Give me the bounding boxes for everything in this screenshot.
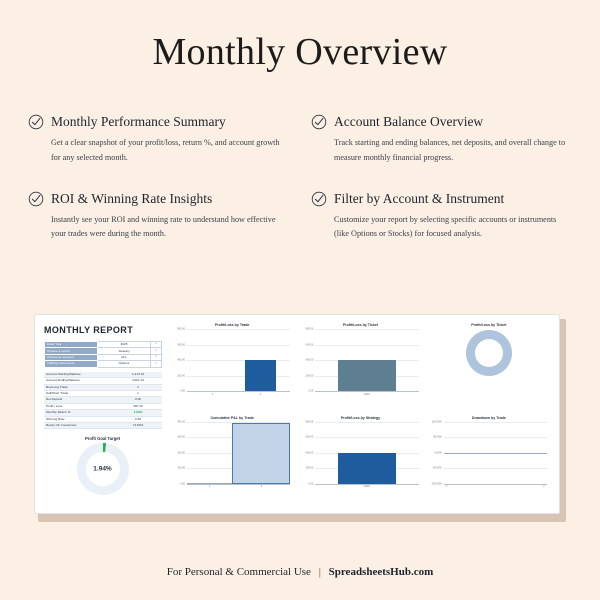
profit-goal-gauge: Profit Goal Target 1.94% [44,436,161,495]
y-tick-label: 800.00 [306,420,314,423]
y-tick-label: 50.00% [433,436,441,439]
x-tick-label: 2 [260,393,261,396]
chart-profit-loss-by-ticket-bar: Profit/Loss by Ticket 800.00 600.00 400.… [297,323,423,414]
bar-1 [338,453,396,484]
check-circle-icon [311,191,327,207]
chart-plot-area: 100.00% 50.00% 0.00% -50.00% -100.00% 1 … [444,422,547,485]
feature-item: Account Balance Overview Track starting … [311,114,572,165]
feature-item: Filter by Account & Instrument Customize… [311,191,572,242]
check-circle-icon [28,114,44,130]
check-circle-icon [311,114,327,130]
check-circle-icon [28,191,44,207]
x-tick-label: 1 [212,393,213,396]
footer-brand: SpreadsheetsHub.com [329,566,434,578]
feature-description: Get a clear snapshot of your profit/loss… [51,136,289,165]
feature-title: Monthly Performance Summary [51,114,226,130]
dashboard-sidebar: MONTHLY REPORT Enter Year 2025 ▾ Choose … [35,315,167,513]
chart-plot-area: 800.00 600.00 400.00 200.00 0.00 1 2 [187,329,290,392]
profit-goal-label: Profit Goal Target [44,436,161,441]
chevron-down-icon[interactable]: ▾ [151,361,162,367]
chart-title: Profit/Loss by Ticket [428,323,550,327]
feature-heading: Filter by Account & Instrument [311,191,572,207]
y-tick-label: 200.00 [177,374,185,377]
y-tick-label: 400.00 [306,451,314,454]
y-tick-label: 600.00 [177,343,185,346]
feature-heading: Account Balance Overview [311,114,572,130]
drawdown-line [444,453,547,454]
chart-title: Drawdown by Trade [428,416,550,420]
feature-list: Monthly Performance Summary Get a clear … [0,74,600,242]
x-tick-label: AAPL [364,393,370,396]
y-tick-label: 600.00 [306,436,314,439]
metric-value: 71.52% [114,423,162,429]
chart-profit-loss-by-strategy: Profit/Loss by Strategy 800.00 600.00 40… [297,416,423,507]
feature-description: Instantly see your ROI and winning rate … [51,213,289,242]
y-tick-label: -100.00% [431,482,442,485]
feature-heading: ROI & Winning Rate Insights [28,191,289,207]
profit-goal-value: 1.94% [77,466,129,473]
feature-description: Customize your report by selecting speci… [334,213,572,242]
bar-2 [245,360,276,391]
page-title: Monthly Overview [0,0,600,74]
y-tick-label: 600.00 [306,343,314,346]
chart-title: Cumulative P&L by Trade [171,416,293,420]
metric-label: Return On Investment [44,423,114,429]
feature-title: Account Balance Overview [334,114,483,130]
y-tick-label: 400.00 [306,359,314,362]
feature-description: Track starting and ending balances, net … [334,136,572,165]
y-tick-label: 400.00 [177,359,185,362]
y-tick-label: 0.00 [180,482,185,485]
profit-goal-donut: 1.94% [77,443,129,495]
x-tick-label: 1 [209,485,210,488]
footer-usage-text: For Personal & Commercial Use [167,566,311,578]
filter-value[interactable]: Options [98,361,151,367]
y-tick-label: 200.00 [306,467,314,470]
charts-grid: Profit/Loss by Trade 800.00 600.00 400.0… [167,315,559,513]
area-segment [232,423,290,483]
y-tick-label: 200.00 [177,451,185,454]
dashboard-window: MONTHLY REPORT Enter Year 2025 ▾ Choose … [34,314,560,514]
feature-heading: Monthly Performance Summary [28,114,289,130]
chart-title: Profit/Loss by Trade [171,323,293,327]
y-tick-label: 0.00 [308,390,313,393]
filter-table: Enter Year 2025 ▾ Choose a month January… [44,341,162,368]
bar-1 [338,360,396,391]
y-tick-label: 0.00% [435,451,442,454]
x-tick-label: 2 [543,485,544,488]
chart-title: Profit/Loss by Ticket [299,323,421,327]
chart-plot-area: 400.00 300.00 200.00 100.00 0.00 1 2 [187,422,290,485]
filter-label: Trading Instruments [45,361,98,367]
chart-profit-loss-by-trade: Profit/Loss by Trade 800.00 600.00 400.0… [169,323,295,414]
chart-profit-loss-by-ticket-donut: Profit/Loss by Ticket [426,323,552,414]
feature-title: Filter by Account & Instrument [334,191,504,207]
chart-cumulative-pl-by-trade: Cumulative P&L by Trade 400.00 300.00 20… [169,416,295,507]
y-tick-label: 800.00 [177,328,185,331]
footer: For Personal & Commercial Use | Spreadsh… [0,566,600,578]
filter-row[interactable]: Trading Instruments Options ▾ [45,361,162,367]
feature-item: Monthly Performance Summary Get a clear … [28,114,289,165]
y-tick-label: 300.00 [177,436,185,439]
feature-item: ROI & Winning Rate Insights Instantly se… [28,191,289,242]
donut-slice-aapl [466,330,512,376]
y-tick-label: 100.00% [432,420,442,423]
y-tick-label: 800.00 [306,328,314,331]
y-tick-label: 400.00 [177,420,185,423]
y-tick-label: -50.00% [432,467,441,470]
feature-title: ROI & Winning Rate Insights [51,191,212,207]
y-tick-label: 100.00 [177,467,185,470]
x-tick-label: AAPL [364,485,370,488]
chart-plot-area: 800.00 600.00 400.00 200.00 0.00 AAPL [315,422,418,485]
dashboard-preview: MONTHLY REPORT Enter Year 2025 ▾ Choose … [34,314,566,522]
y-tick-label: 0.00 [308,482,313,485]
x-tick-label: 2 [261,485,262,488]
y-tick-label: 200.00 [306,374,314,377]
chart-drawdown-by-trade: Drawdown by Trade 100.00% 50.00% 0.00% -… [426,416,552,507]
metrics-table: Account Starting Balance 1,213.14 Accoun… [44,372,162,430]
y-tick-label: 0.00 [180,390,185,393]
table-row: Return On Investment 71.52% [44,423,162,429]
chart-title: Profit/Loss by Strategy [299,416,421,420]
x-tick-label: 1 [446,485,447,488]
dashboard-title: MONTHLY REPORT [44,325,161,335]
footer-separator: | [319,566,321,578]
chart-plot-area: 800.00 600.00 400.00 200.00 0.00 AAPL [315,329,418,392]
